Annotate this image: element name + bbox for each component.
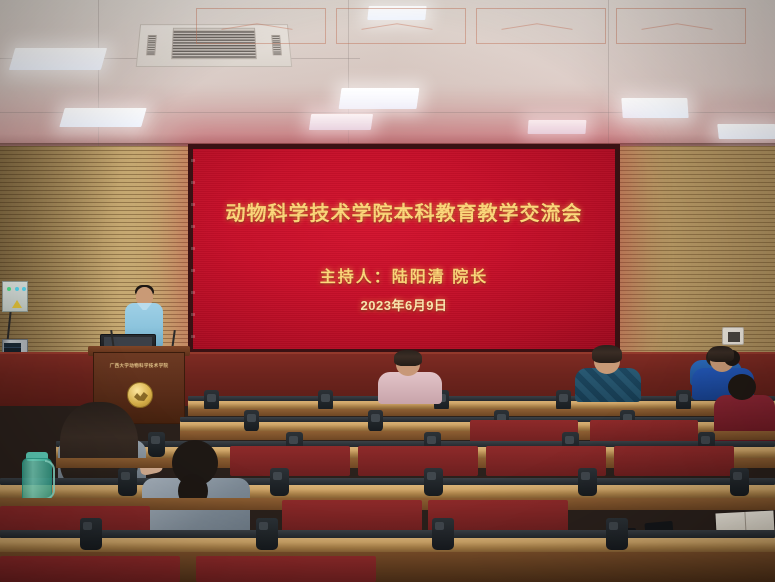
- desk-bracket: [256, 518, 278, 550]
- warning-triangle-icon: [12, 300, 22, 308]
- desk-rail: [0, 478, 775, 485]
- podium-institution-label: 广西大学动物科学技术学院: [94, 363, 184, 369]
- ceiling-light: [339, 88, 420, 109]
- auditorium-seat[interactable]: [614, 446, 734, 476]
- desk-bracket: [270, 468, 289, 496]
- desk-bracket: [368, 410, 383, 432]
- lecture-hall-photo: 动物科学技术学院本科教育教学交流会 主持人：陆阳清 院长 2023年6月9日: [0, 0, 775, 582]
- led-screen-surface: 动物科学技术学院本科教育教学交流会 主持人：陆阳清 院长 2023年6月9日: [193, 149, 615, 349]
- ceiling-light: [59, 108, 146, 127]
- ceiling-light: [528, 120, 587, 134]
- auditorium-seat[interactable]: [0, 556, 180, 582]
- desk-bracket: [432, 518, 454, 550]
- ceiling-light: [621, 98, 688, 118]
- ceiling-light: [9, 48, 107, 70]
- ceiling-light: [309, 114, 373, 130]
- wall-control-panel[interactable]: [2, 281, 28, 312]
- screen-date: 2023年6月9日: [193, 295, 615, 314]
- university-emblem: [127, 382, 153, 408]
- desk-bracket: [730, 468, 749, 496]
- desk-bracket: [118, 468, 137, 496]
- led-display-screen: 动物科学技术学院本科教育教学交流会 主持人：陆阳清 院长 2023年6月9日: [188, 144, 620, 354]
- wall-power-socket[interactable]: [722, 327, 744, 345]
- desk-bracket: [80, 518, 102, 550]
- desk-bracket: [606, 518, 628, 550]
- auditorium-seat[interactable]: [282, 500, 422, 534]
- auditorium-seat[interactable]: [196, 556, 376, 582]
- desk-bracket: [244, 410, 259, 432]
- auditorium-seat[interactable]: [358, 446, 478, 476]
- desk-bracket: [424, 468, 443, 496]
- screen-host-line: 主持人：陆阳清 院长: [193, 263, 615, 287]
- ceiling-light: [717, 124, 775, 139]
- desk-bracket: [578, 468, 597, 496]
- screen-title: 动物科学技术学院本科教育教学交流会: [193, 197, 615, 226]
- auditorium-seat[interactable]: [230, 446, 350, 476]
- desk-bracket: [148, 432, 165, 457]
- desk-rail: [0, 530, 775, 538]
